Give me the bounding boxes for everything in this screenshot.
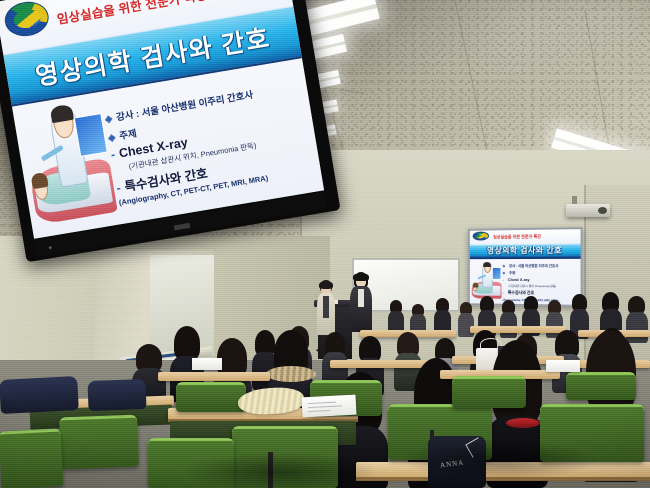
backpack: [87, 379, 146, 411]
dash-marker-icon: -: [115, 181, 121, 195]
handout-papers: [546, 360, 580, 372]
slide-bullet-lecturer: 강사 : 서울 아산병원 이주리 간호사: [509, 263, 558, 268]
projected-slide: 임상실습을 위한 전문가 특강 영상의학 검사와 간호 ◈강사 : 서울 아산병…: [470, 229, 581, 305]
chair: [176, 382, 246, 412]
backpack: [0, 376, 79, 414]
handout-papers: [192, 358, 222, 370]
floor-shadow: [180, 452, 380, 488]
student: [388, 300, 404, 334]
slide-bullet-topic: 주제: [118, 126, 138, 143]
presenter-left: [316, 280, 336, 338]
presenter-right: [350, 272, 372, 334]
classroom-photo: 임상실습을 위한 전문가 특강 영상의학 검사와 간호 ◈강사 : 서울 아산병…: [0, 0, 650, 488]
student: [434, 298, 451, 334]
dash-marker-icon: -: [110, 147, 116, 161]
slide-topic-0: Chest X-ray: [508, 277, 530, 282]
chair: [566, 372, 636, 400]
chair: [59, 415, 139, 470]
university-emblem: [3, 0, 52, 39]
bullet-marker-icon: ◈: [104, 113, 113, 125]
slide-kicker: 임상실습을 위한 전문가 특강: [493, 234, 541, 241]
red-scarf: [506, 418, 540, 428]
fur-collar: [266, 366, 316, 382]
chair: [452, 376, 526, 408]
university-emblem: [473, 232, 489, 241]
slide-topic-2: 특수검사와 간호: [508, 290, 534, 296]
ceiling-projector: [566, 204, 610, 217]
desk: [158, 372, 270, 381]
projection-screen: 임상실습을 위한 전문가 특강 영상의학 검사와 간호 ◈강사 : 서울 아산병…: [468, 227, 583, 307]
slide-topic-1: (기관내관 삽관시 위치, Pneumonia 판독): [508, 284, 556, 288]
handout-papers: [302, 395, 357, 418]
chair: [0, 428, 63, 488]
floor-shadow: [400, 440, 600, 480]
slide-title: 영상의학 검사와 간호: [487, 245, 562, 256]
slide-bullet-topic: 주제: [509, 270, 515, 275]
bullet-marker-icon: ◈: [107, 132, 116, 144]
